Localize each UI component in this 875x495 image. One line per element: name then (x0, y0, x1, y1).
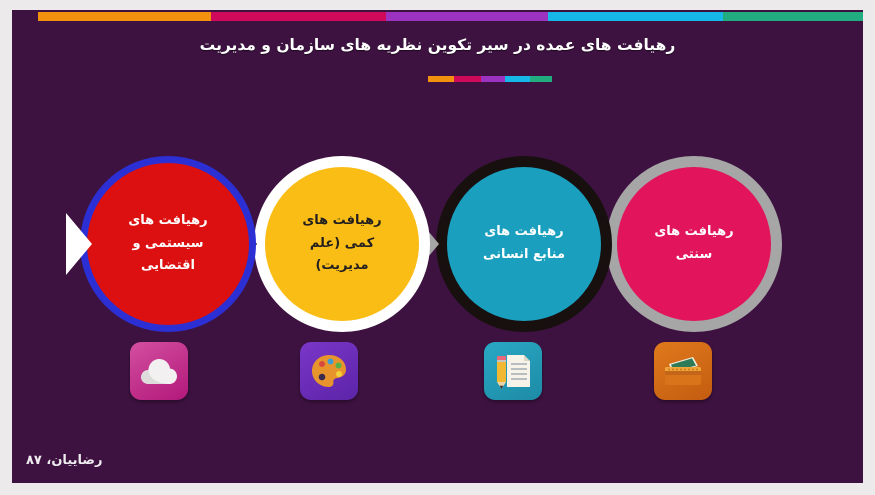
node-quantitative[interactable]: رهیافت های کمی (علم مدیریت) (254, 156, 430, 332)
wallet-icon (663, 355, 703, 387)
node-disc-systemic: رهیافت های سیستمی و اقتضایی (87, 163, 249, 325)
node-label-quantitative: رهیافت های کمی (علم مدیریت) (283, 210, 401, 278)
node-disc-traditional: رهیافت های سنتی (617, 167, 771, 321)
node-label-traditional: رهیافت های سنتی (635, 221, 753, 267)
node-label-systemic: رهیافت های سیستمی و اقتضایی (109, 210, 227, 278)
source-credit: رضاییان، ۸۷ (26, 453, 102, 468)
node-systemic[interactable]: رهیافت های سیستمی و اقتضایی (80, 156, 256, 332)
approach-chain: رهیافت های سنتی رهیافت های منابع انسانی … (12, 10, 863, 483)
icon-tile-cloud[interactable] (130, 342, 188, 400)
node-label-human-resources: رهیافت های منابع انسانی (465, 221, 583, 267)
node-disc-quantitative: رهیافت های کمی (علم مدیریت) (265, 167, 419, 321)
arrow-notch-systemic (66, 213, 92, 275)
node-traditional[interactable]: رهیافت های سنتی (606, 156, 782, 332)
palette-icon (310, 353, 348, 389)
node-disc-human-resources: رهیافت های منابع انسانی (447, 167, 601, 321)
notepad-pencil-icon (493, 352, 533, 390)
cloud-icon (140, 356, 178, 386)
slide-canvas: رهیافت های عمده در سیر تکوین نظریه های س… (12, 10, 863, 483)
icon-tile-wallet[interactable] (654, 342, 712, 400)
node-human-resources[interactable]: رهیافت های منابع انسانی (436, 156, 612, 332)
icon-tile-palette[interactable] (300, 342, 358, 400)
icon-tile-notepad[interactable] (484, 342, 542, 400)
